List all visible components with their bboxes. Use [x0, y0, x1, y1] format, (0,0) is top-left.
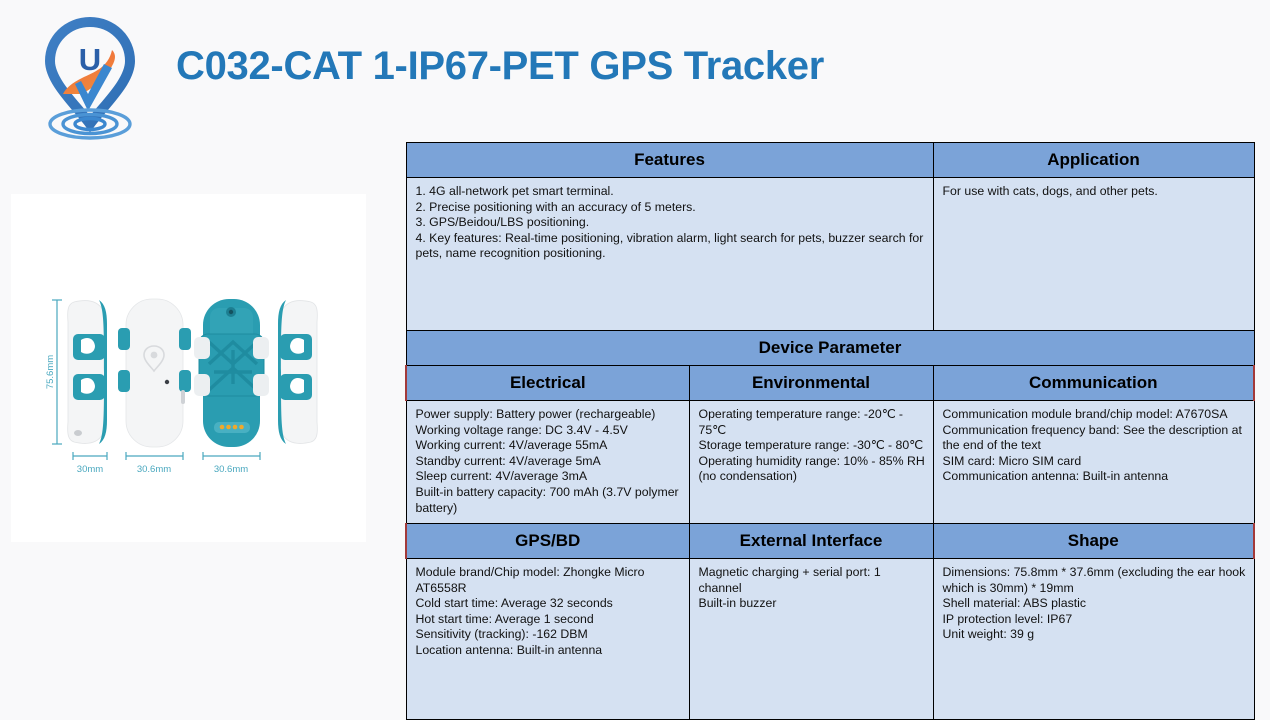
- dimension-width-front-label: 30.6mm: [137, 464, 171, 475]
- table-row-group2-headers: GPS/BD External Interface Shape: [406, 524, 1254, 559]
- table-row-group1-body: Power supply: Battery power (rechargeabl…: [406, 401, 1254, 524]
- device-view-front: [118, 299, 191, 447]
- dimension-width-front: [126, 452, 183, 460]
- page-title: C032-CAT 1-IP67-PET GPS Tracker: [176, 44, 824, 89]
- page-header: U C032-CAT 1-IP67-PET GPS Tracker: [0, 0, 1270, 150]
- dimension-width-side-label: 30mm: [77, 464, 103, 475]
- dimension-width-side: [73, 452, 107, 460]
- dimension-height-label: 75.6mm: [45, 355, 56, 389]
- device-view-back: [194, 299, 269, 447]
- table-row-group2-body: Module brand/Chip model: Zhongke Micro A…: [406, 559, 1254, 720]
- electrical-header: Electrical: [406, 366, 689, 401]
- device-view-side-right: [278, 300, 317, 444]
- specification-table: Features Application 1. 4G all-network p…: [405, 142, 1255, 720]
- external-interface-body: Magnetic charging + serial port: 1 chann…: [689, 559, 933, 720]
- gpsbd-header: GPS/BD: [406, 524, 689, 559]
- dimension-width-back: [203, 452, 260, 460]
- table-row-features-body: 1. 4G all-network pet smart terminal.2. …: [406, 178, 1254, 331]
- product-photo-panel: 75.6mm 30mm: [11, 194, 366, 542]
- device-views-figure: 75.6mm 30mm: [11, 194, 366, 542]
- table-row-features-header: Features Application: [406, 143, 1254, 178]
- table-row-device-parameter: Device Parameter: [406, 331, 1254, 366]
- features-body: 1. 4G all-network pet smart terminal.2. …: [406, 178, 933, 331]
- electrical-body: Power supply: Battery power (rechargeabl…: [406, 401, 689, 524]
- table-row-group1-headers: Electrical Environmental Communication: [406, 366, 1254, 401]
- shape-body: Dimensions: 75.8mm * 37.6mm (excluding t…: [933, 559, 1254, 720]
- application-body: For use with cats, dogs, and other pets.: [933, 178, 1254, 331]
- gpsbd-body: Module brand/Chip model: Zhongke Micro A…: [406, 559, 689, 720]
- device-view-side-left: [68, 300, 107, 444]
- features-header: Features: [406, 143, 933, 178]
- device-parameter-header: Device Parameter: [406, 331, 1254, 366]
- application-header: Application: [933, 143, 1254, 178]
- environmental-header: Environmental: [689, 366, 933, 401]
- u-gps-pin-logo: U: [28, 12, 152, 142]
- dimension-width-back-label: 30.6mm: [214, 464, 248, 475]
- communication-header: Communication: [933, 366, 1254, 401]
- environmental-body: Operating temperature range: -20℃ - 75℃S…: [689, 401, 933, 524]
- communication-body: Communication module brand/chip model: A…: [933, 401, 1254, 524]
- external-interface-header: External Interface: [689, 524, 933, 559]
- shape-header: Shape: [933, 524, 1254, 559]
